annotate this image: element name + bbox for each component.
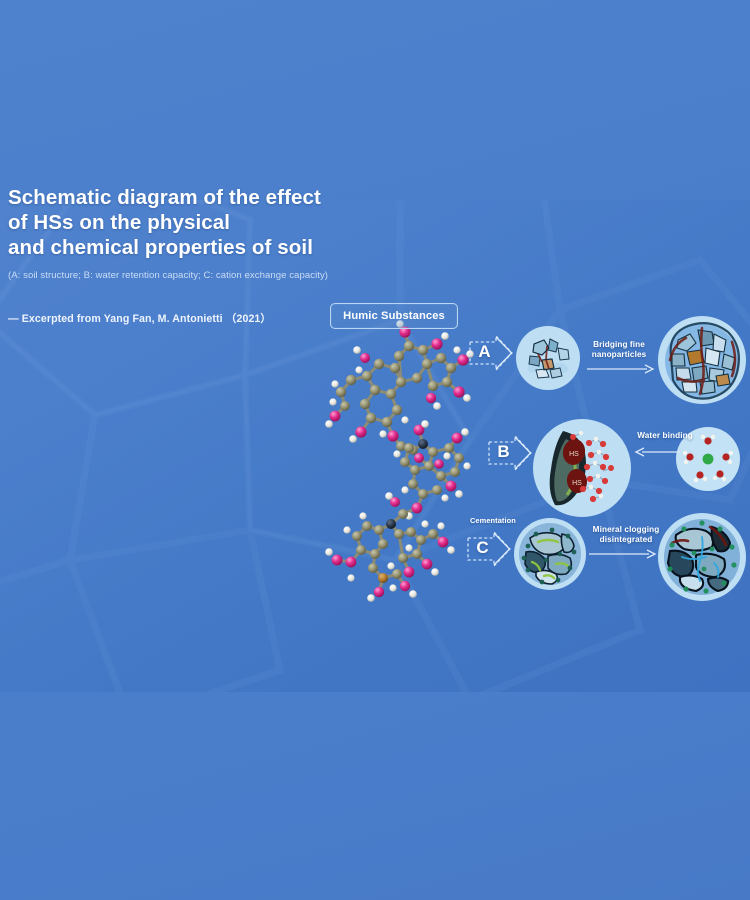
page-title: Schematic diagram of the effect of HSs o… bbox=[8, 185, 348, 260]
title-line-3: and chemical properties of soil bbox=[8, 235, 348, 260]
label-cementation: Cementation bbox=[470, 516, 516, 525]
arrow-label-mineral-clogging: Mineral clogging disintegrated bbox=[580, 525, 672, 545]
arrow-label-bridging: Bridging fine nanoparticles bbox=[578, 340, 660, 360]
arrow-row-c bbox=[589, 548, 657, 560]
marker-A: A bbox=[468, 334, 512, 370]
poster-canvas: A Bridging fine nanoparticles HS HS bbox=[0, 0, 750, 900]
disc-loose-mineral-fragments bbox=[516, 326, 580, 390]
marker-C-label: C bbox=[466, 530, 499, 566]
citation-line: — Excerpted from Yang Fan, M. Antonietti… bbox=[8, 311, 348, 326]
text-block: Schematic diagram of the effect of HSs o… bbox=[8, 185, 348, 326]
marker-C: C bbox=[466, 530, 510, 566]
arrow-label-water-binding: Water binding bbox=[629, 431, 701, 441]
title-line-2: of HSs on the physical bbox=[8, 210, 348, 235]
disc-aggregated-mineral-cluster bbox=[658, 316, 746, 404]
svg-text:HS: HS bbox=[569, 451, 579, 458]
humic-substances-label: Humic Substances bbox=[343, 310, 445, 322]
arrow-row-a bbox=[587, 363, 655, 375]
svg-text:HS: HS bbox=[572, 480, 582, 487]
humic-substance-molecule bbox=[305, 320, 485, 610]
marker-B-label: B bbox=[487, 434, 520, 470]
disc-humic-sheet-with-water: HS HS bbox=[533, 419, 631, 517]
marker-A-label: A bbox=[468, 334, 501, 370]
marker-B: B bbox=[487, 434, 531, 470]
title-line-1: Schematic diagram of the effect bbox=[8, 185, 348, 210]
disc-cemented-mineral-aggregate bbox=[514, 518, 586, 590]
arrow-row-b bbox=[634, 446, 682, 458]
legend-subtitle: (A: soil structure; B: water retention c… bbox=[8, 269, 348, 282]
humic-substances-badge: Humic Substances bbox=[330, 303, 458, 329]
